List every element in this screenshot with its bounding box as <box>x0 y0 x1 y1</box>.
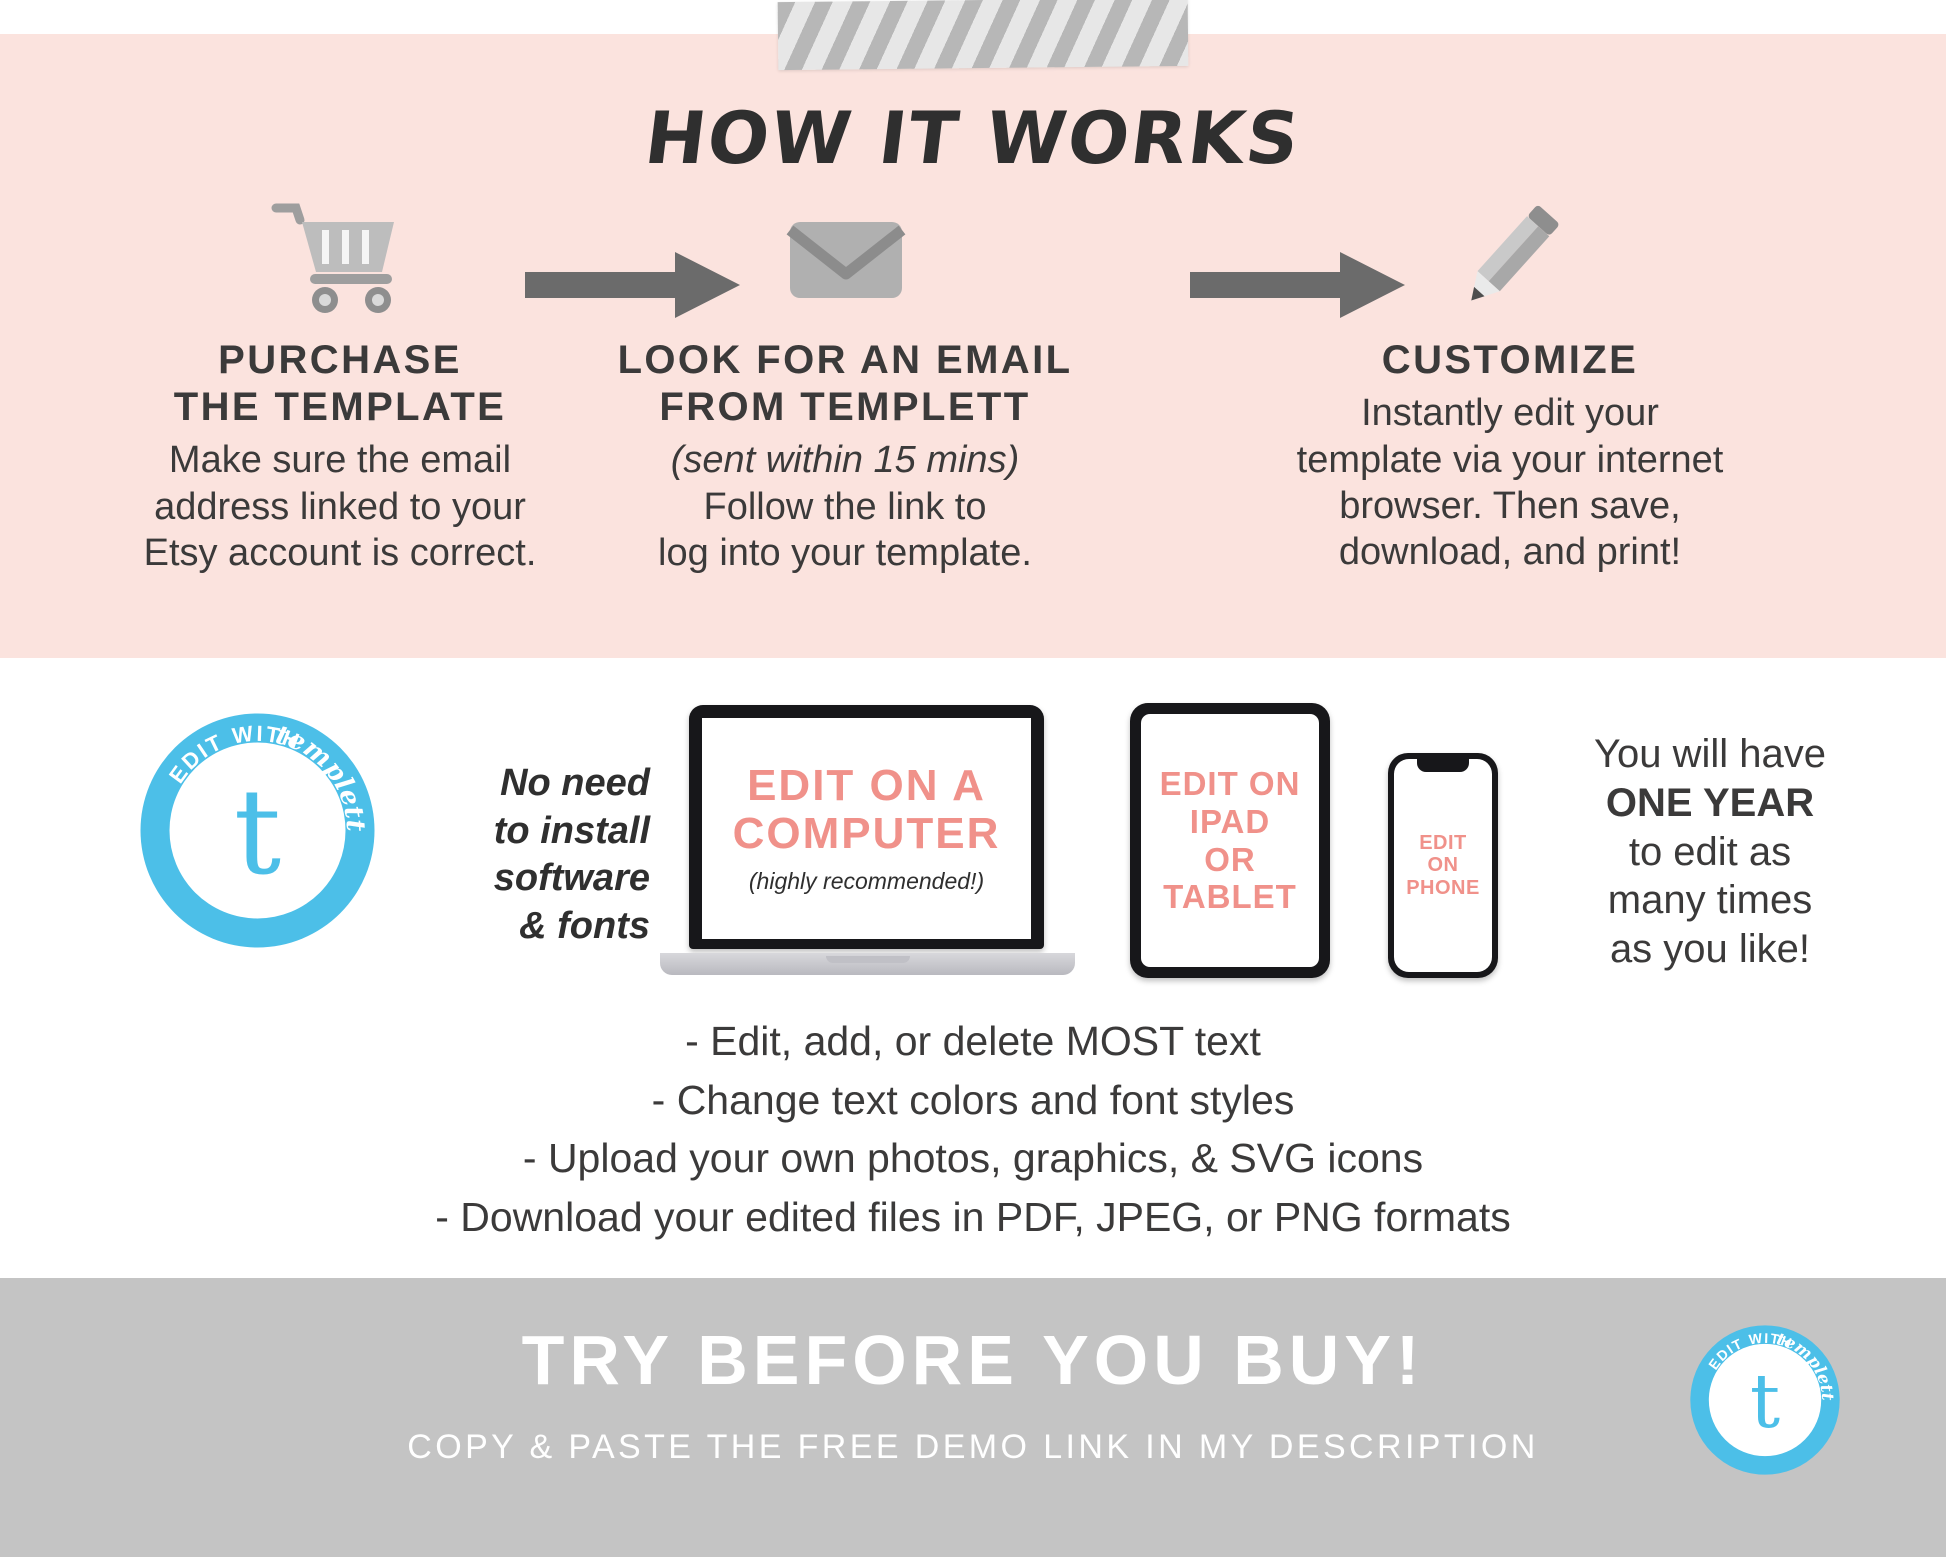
footer-headline: TRY BEFORE YOU BUY! <box>0 1320 1946 1400</box>
tablet-mockup: EDIT ON IPAD OR TABLET <box>1130 703 1330 978</box>
laptop-screen-subtext: (highly recommended!) <box>749 868 984 895</box>
list-item: - Upload your own photos, graphics, & SV… <box>0 1129 1946 1188</box>
tablet-screen: EDIT ON IPAD OR TABLET <box>1141 714 1319 967</box>
envelope-icon <box>585 195 1105 315</box>
badge-letter-t: t <box>234 763 281 901</box>
feature-bullet-list: - Edit, add, or delete MOST text - Chang… <box>0 1012 1946 1247</box>
tablet-screen-heading: EDIT ON IPAD OR TABLET <box>1160 765 1301 915</box>
laptop-lid: EDIT ON A COMPUTER (highly recommended!) <box>689 705 1044 949</box>
list-item: - Edit, add, or delete MOST text <box>0 1012 1946 1071</box>
one-year-highlight: ONE YEAR <box>1606 781 1814 825</box>
step-purchase-body: Make sure the email address linked to yo… <box>60 437 620 576</box>
step-customize-heading: CUSTOMIZE <box>1120 337 1900 384</box>
laptop-mockup: EDIT ON A COMPUTER (highly recommended!) <box>660 705 1075 975</box>
page-title: HOW IT WORKS <box>0 96 1946 180</box>
footer-subline: COPY & PASTE THE FREE DEMO LINK IN MY DE… <box>0 1428 1946 1467</box>
no-need-text: No need to install software & fonts <box>440 760 650 950</box>
steps-row: PURCHASE THE TEMPLATE Make sure the emai… <box>0 195 1946 625</box>
laptop-trackpad-notch <box>826 956 910 963</box>
step-email-body: (sent within 15 mins) Follow the link to… <box>585 437 1105 576</box>
badge-letter-t: t <box>1750 1357 1780 1445</box>
step-email: LOOK FOR AN EMAIL FROM TEMPLETT (sent wi… <box>585 195 1105 576</box>
shopping-cart-icon <box>60 195 620 315</box>
step-customize-body: Instantly edit your template via your in… <box>1120 390 1900 575</box>
list-item: - Download your edited files in PDF, JPE… <box>0 1188 1946 1247</box>
step-purchase-heading: PURCHASE THE TEMPLATE <box>60 337 620 431</box>
phone-screen: EDIT ON PHONE <box>1394 759 1492 972</box>
templett-badge-large: EDIT WITH templett EDITABLE TEMPLATE t <box>140 713 375 948</box>
one-year-text: You will have ONE YEAR to edit as many t… <box>1500 730 1920 974</box>
laptop-screen-heading: EDIT ON A COMPUTER <box>733 762 1001 859</box>
infographic-page: HOW IT WORKS <box>0 0 1946 1557</box>
laptop-screen: EDIT ON A COMPUTER (highly recommended!) <box>702 718 1031 939</box>
pencil-icon <box>1120 195 1900 315</box>
phone-screen-heading: EDIT ON PHONE <box>1406 832 1480 899</box>
washi-tape-icon <box>778 0 1189 70</box>
phone-mockup: EDIT ON PHONE <box>1388 753 1498 978</box>
templett-badge-small: EDIT WITH templett EDITABLE TEMPLATE t <box>1690 1325 1840 1475</box>
list-item: - Change text colors and font styles <box>0 1071 1946 1130</box>
phone-notch <box>1417 759 1469 772</box>
step-email-italic-note: (sent within 15 mins) <box>585 437 1105 483</box>
step-purchase: PURCHASE THE TEMPLATE Make sure the emai… <box>60 195 620 576</box>
step-customize: CUSTOMIZE Instantly edit your template v… <box>1120 195 1900 576</box>
step-email-heading: LOOK FOR AN EMAIL FROM TEMPLETT <box>585 337 1105 431</box>
